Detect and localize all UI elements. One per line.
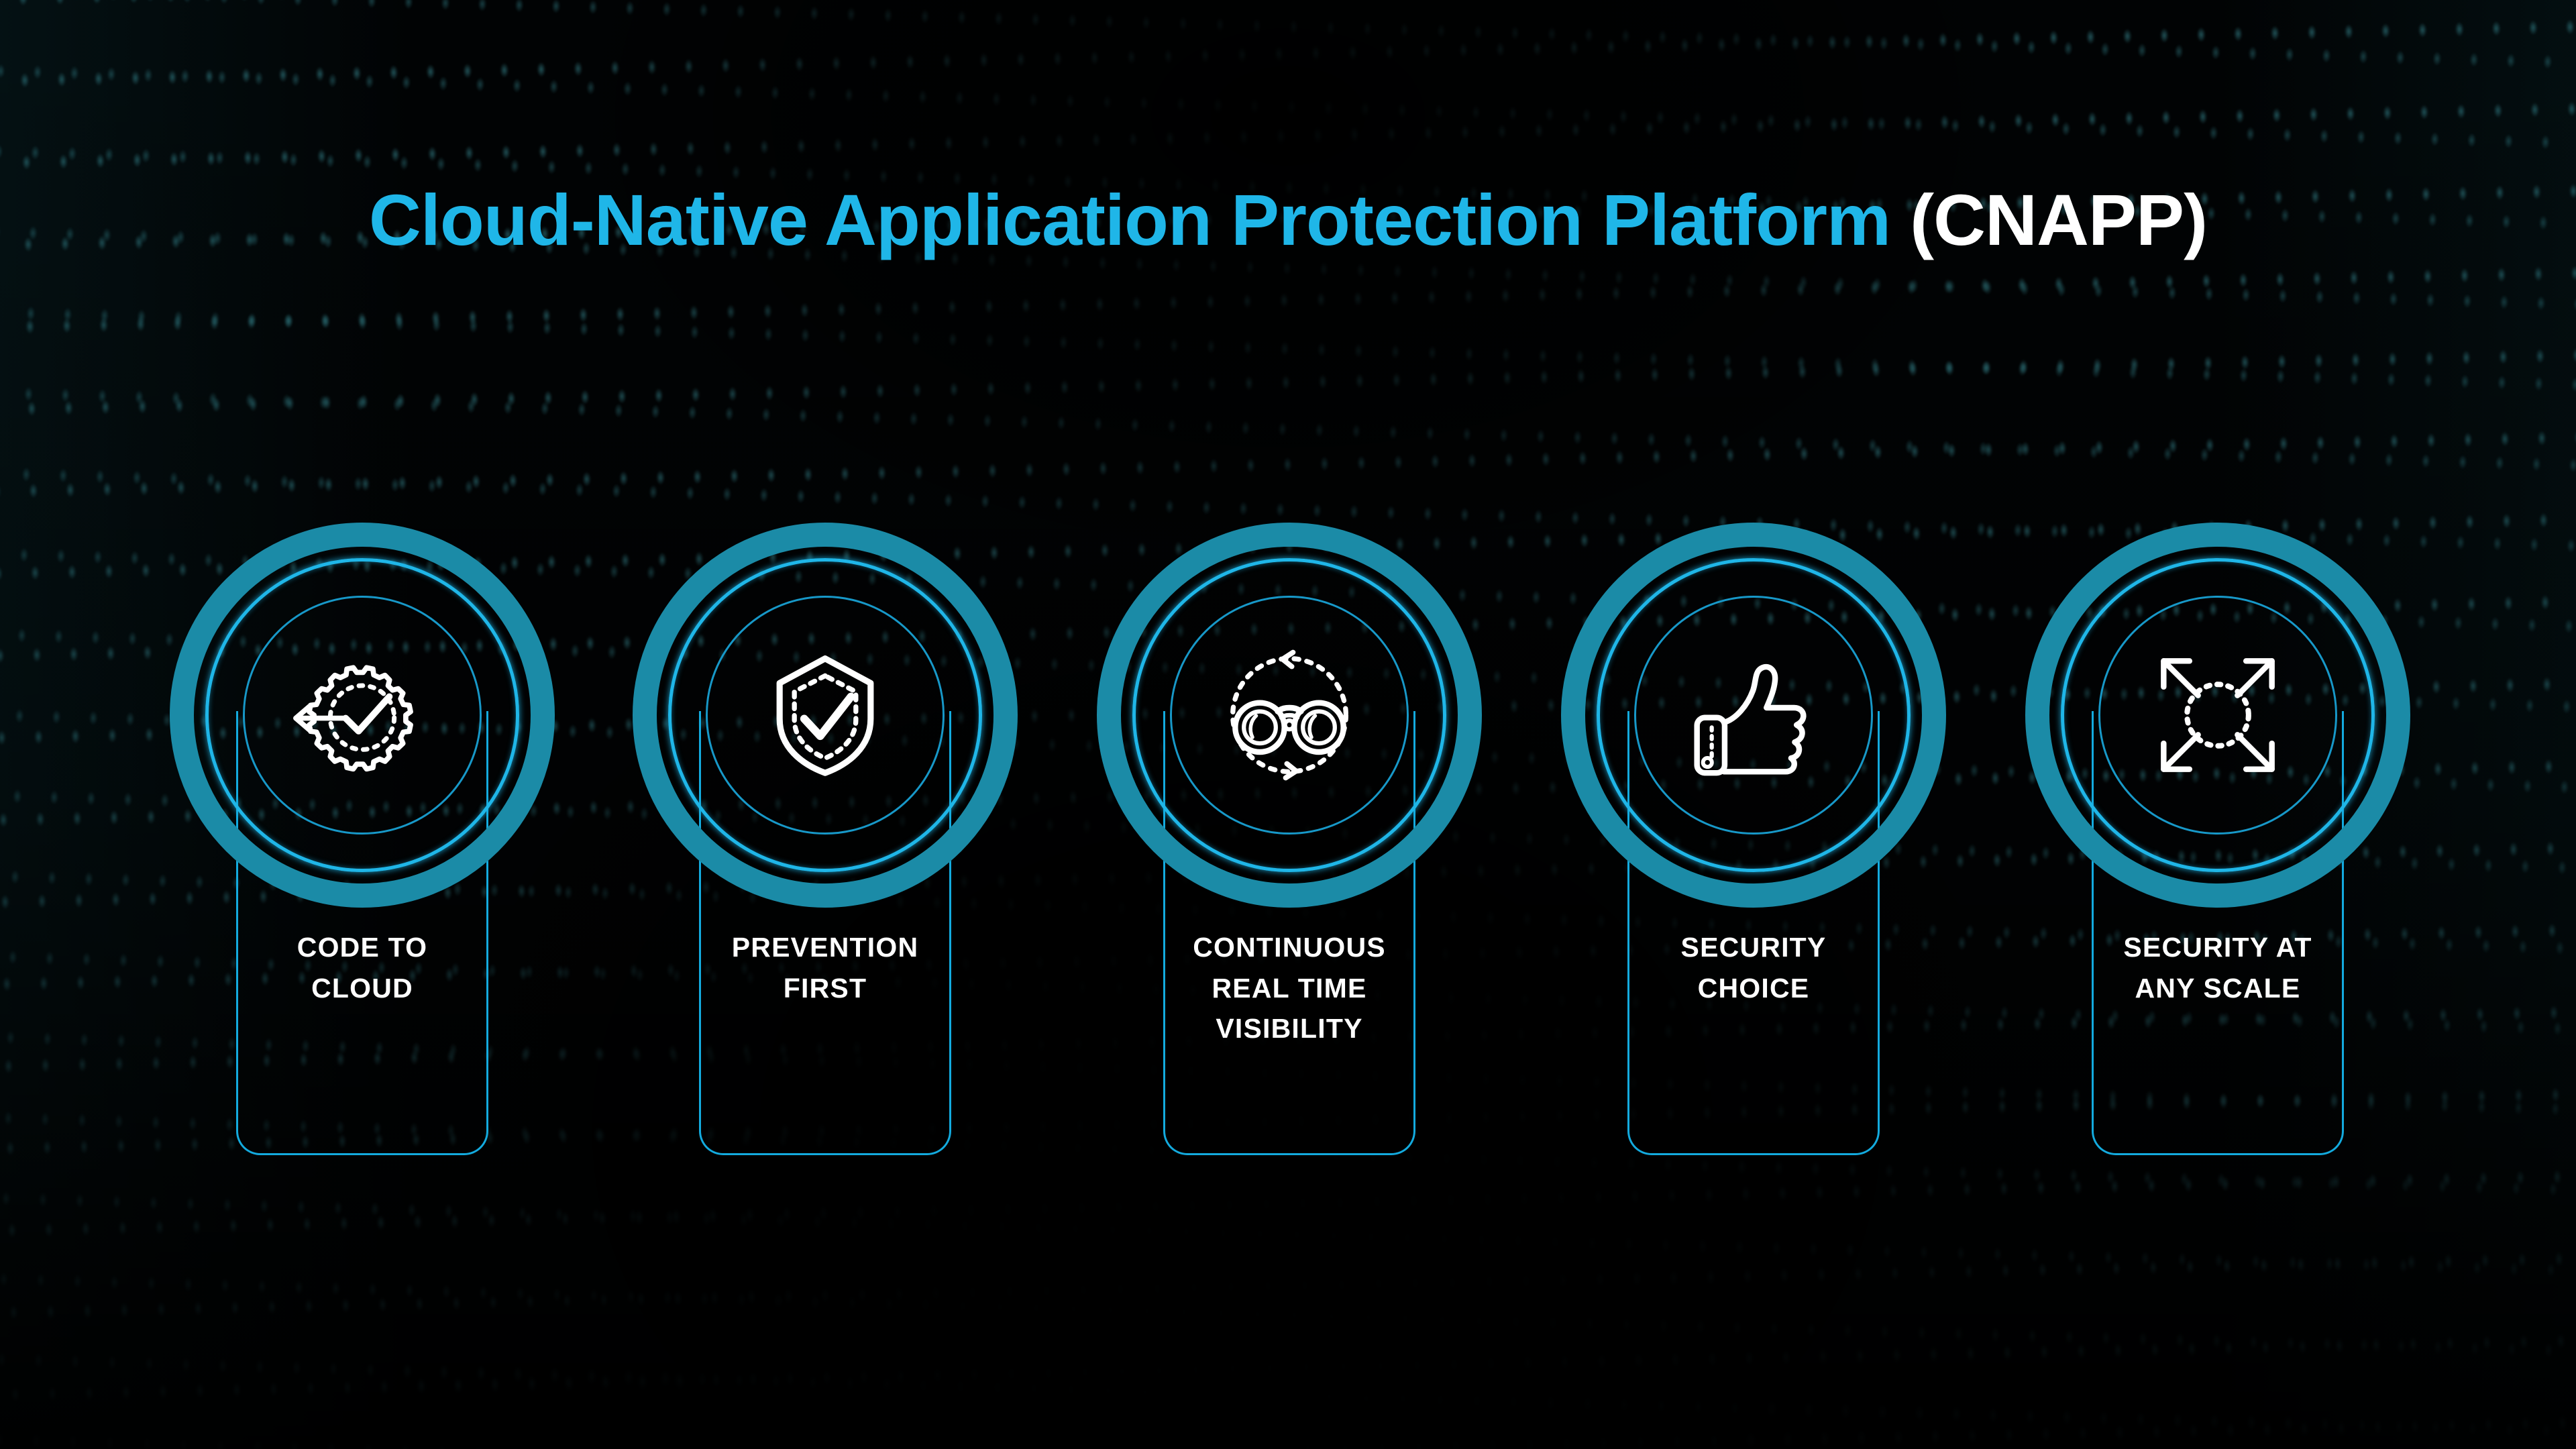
title-acronym-text: (CNAPP): [1910, 179, 2207, 260]
card-label: SECURITY AT ANY SCALE: [2051, 927, 2384, 1008]
card-label-line: REAL TIME: [1123, 968, 1456, 1009]
card-label-line: PREVENTION: [659, 927, 991, 968]
title-accent-text: Cloud-Native Application Protection Plat…: [369, 179, 1890, 260]
card-label: CONTINUOUS REAL TIME VISIBILITY: [1123, 927, 1456, 1049]
pillar-card-prevention-first[interactable]: PREVENTION FIRST: [627, 517, 1024, 1155]
gear-check-arrow-icon: [268, 621, 456, 809]
shield-check-icon: [731, 621, 919, 809]
card-label-line: CONTINUOUS: [1123, 927, 1456, 968]
pillar-card-security-choice[interactable]: SECURITY CHOICE: [1555, 517, 1952, 1155]
card-circle: [164, 517, 561, 914]
binoculars-refresh-icon: [1195, 621, 1383, 809]
card-circle: [1091, 517, 1488, 914]
card-label-line: SECURITY AT: [2051, 927, 2384, 968]
card-label: CODE TO CLOUD: [196, 927, 529, 1008]
card-label-line: FIRST: [659, 968, 991, 1009]
pillar-card-code-to-cloud[interactable]: CODE TO CLOUD: [164, 517, 561, 1155]
card-circle: [2019, 517, 2416, 914]
card-label-line: CODE TO: [196, 927, 529, 968]
pillar-card-continuous-real-time-visibility[interactable]: CONTINUOUS REAL TIME VISIBILITY: [1091, 517, 1488, 1155]
pillar-card-row: CODE TO CLOUD PREVENTION FIRST: [0, 517, 2576, 1161]
card-label-line: CHOICE: [1587, 968, 1920, 1009]
card-label-line: SECURITY: [1587, 927, 1920, 968]
page-title: Cloud-Native Application Protection Plat…: [0, 184, 2576, 256]
card-circle: [627, 517, 1024, 914]
pillar-card-security-at-any-scale[interactable]: SECURITY AT ANY SCALE: [2019, 517, 2416, 1155]
thumbs-up-icon: [1660, 621, 1847, 809]
expand-arrows-icon: [2124, 621, 2312, 809]
card-label: SECURITY CHOICE: [1587, 927, 1920, 1008]
card-label-line: CLOUD: [196, 968, 529, 1009]
card-circle: [1555, 517, 1952, 914]
card-label-line: VISIBILITY: [1123, 1008, 1456, 1049]
card-label: PREVENTION FIRST: [659, 927, 991, 1008]
card-label-line: ANY SCALE: [2051, 968, 2384, 1009]
